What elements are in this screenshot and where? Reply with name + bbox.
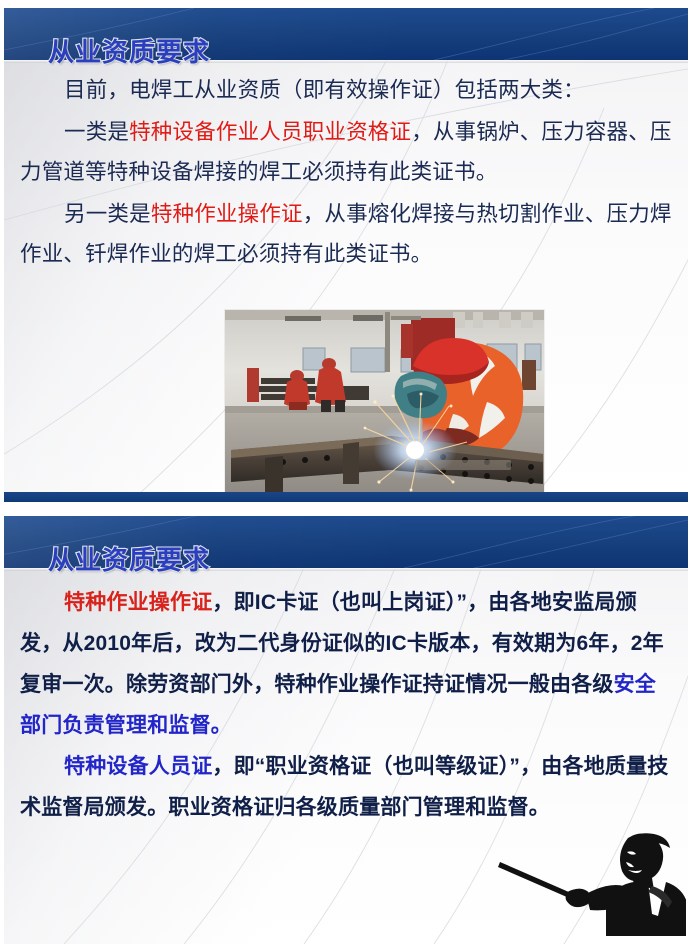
highlight-red-run: 特种作业操作证 [64,591,212,614]
slide-2-paragraph-2: 特种设备人员证，即“职业资格证（也叫等级证）”，由各地质量技术监督局颁发。职业资… [20,746,672,828]
slide-1-paragraph-1: 目前，电焊工从业资质（即有效操作证）包括两大类： [20,70,672,110]
slide-1-bottom-bar [4,492,688,502]
presenter-silhouette-icon [486,828,686,936]
slide-2-paragraph-1: 特种作业操作证，即IC卡证（也叫上岗证）”，由各地安监局颁发，从2010年后，改… [20,582,672,746]
slide-2-bottom-bar [4,934,688,944]
slide-1-canvas: 从业资质要求 目前，电焊工从业资质（即有效操作证）包括两大类： 一类是特种设备作… [4,8,688,502]
highlight-blue-run: 特种设备人员证 [64,755,212,778]
slide-deck: 从业资质要求 目前，电焊工从业资质（即有效操作证）包括两大类： 一类是特种设备作… [0,0,692,950]
slide-1-paragraph-2: 一类是特种设备作业人员职业资格证，从事锅炉、压力容器、压力管道等特种设备焊接的焊… [20,112,672,192]
slide-1-title: 从业资质要求 [48,32,210,69]
text-run: 目前，电焊工从业资质（即有效操作证）包括两大类： [64,78,585,102]
slide-1-paragraph-3: 另一类是特种作业操作证，从事熔化焊接与热切割作业、压力焊作业、钎焊作业的焊工必须… [20,194,672,274]
highlight-red-run: 特种设备作业人员职业资格证 [129,120,411,144]
slide-1-body: 目前，电焊工从业资质（即有效操作证）包括两大类： 一类是特种设备作业人员职业资格… [4,70,688,276]
welding-photo [225,310,544,497]
text-run: 另一类是 [64,202,151,226]
slide-1: 从业资质要求 目前，电焊工从业资质（即有效操作证）包括两大类： 一类是特种设备作… [0,0,692,508]
highlight-red-run: 特种作业操作证 [151,202,303,226]
slide-2: 从业资质要求 特种作业操作证，即IC卡证（也叫上岗证）”，由各地安监局颁发，从2… [0,508,692,950]
text-run: 一类是 [64,120,129,144]
slide-2-body: 特种作业操作证，即IC卡证（也叫上岗证）”，由各地安监局颁发，从2010年后，改… [4,582,688,828]
welding-photo-image [225,310,544,497]
slide-2-title: 从业资质要求 [48,540,210,577]
slide-2-canvas: 从业资质要求 特种作业操作证，即IC卡证（也叫上岗证）”，由各地安监局颁发，从2… [4,516,688,944]
